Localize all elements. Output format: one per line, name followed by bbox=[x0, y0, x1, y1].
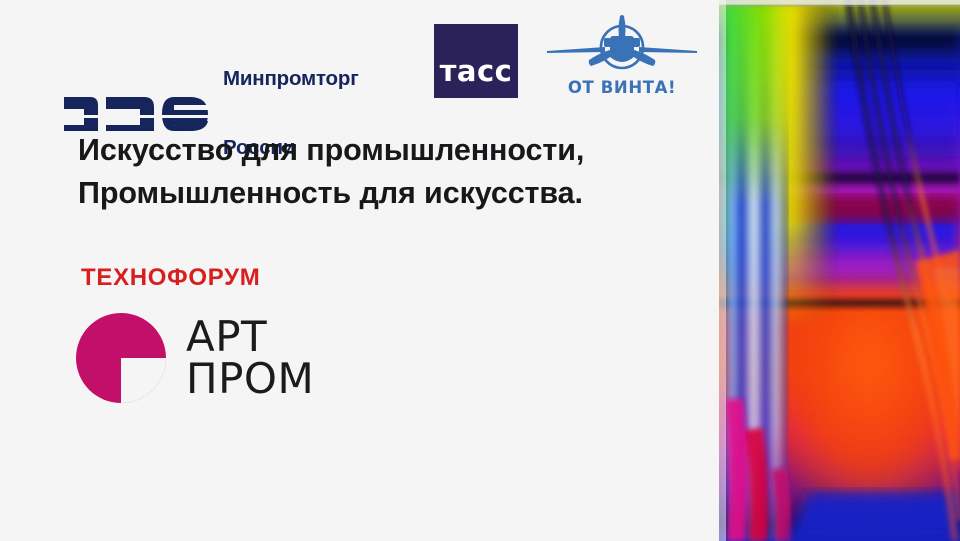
otvinta-wordmark: ОТ ВИНТА! bbox=[546, 78, 698, 97]
abstract-gradient-graphic bbox=[719, 0, 960, 541]
airplane-propeller-icon bbox=[547, 14, 697, 80]
technoforum-label: ТЕХНОФОРУМ bbox=[81, 264, 260, 292]
artprom-logo: АРТ ПРОМ bbox=[71, 308, 314, 408]
otvinta-logo: ОТ ВИНТА! bbox=[546, 14, 698, 97]
logo-strip: Минпромторг России тасс bbox=[0, 0, 719, 118]
artprom-circle-mark bbox=[71, 308, 175, 408]
content-panel: Минпромторг России тасс bbox=[0, 0, 719, 541]
slide-canvas: Минпромторг России тасс bbox=[0, 0, 960, 541]
headline: Искусство для промышленности, Промышленн… bbox=[78, 129, 678, 216]
minpromtorg-wordmark-line-1: Минпромторг bbox=[223, 68, 359, 91]
artprom-wordmark-line-2: ПРОМ bbox=[186, 358, 314, 400]
tass-logo: тасс bbox=[434, 24, 518, 98]
headline-line-1: Искусство для промышленности, bbox=[78, 129, 678, 172]
artprom-wordmark-line-1: АРТ bbox=[186, 316, 314, 358]
tass-wordmark: тасс bbox=[440, 57, 513, 86]
artprom-wordmark: АРТ ПРОМ bbox=[186, 316, 314, 399]
abstract-artwork-panel bbox=[719, 0, 960, 541]
headline-line-2: Промышленность для искусства. bbox=[78, 172, 678, 215]
